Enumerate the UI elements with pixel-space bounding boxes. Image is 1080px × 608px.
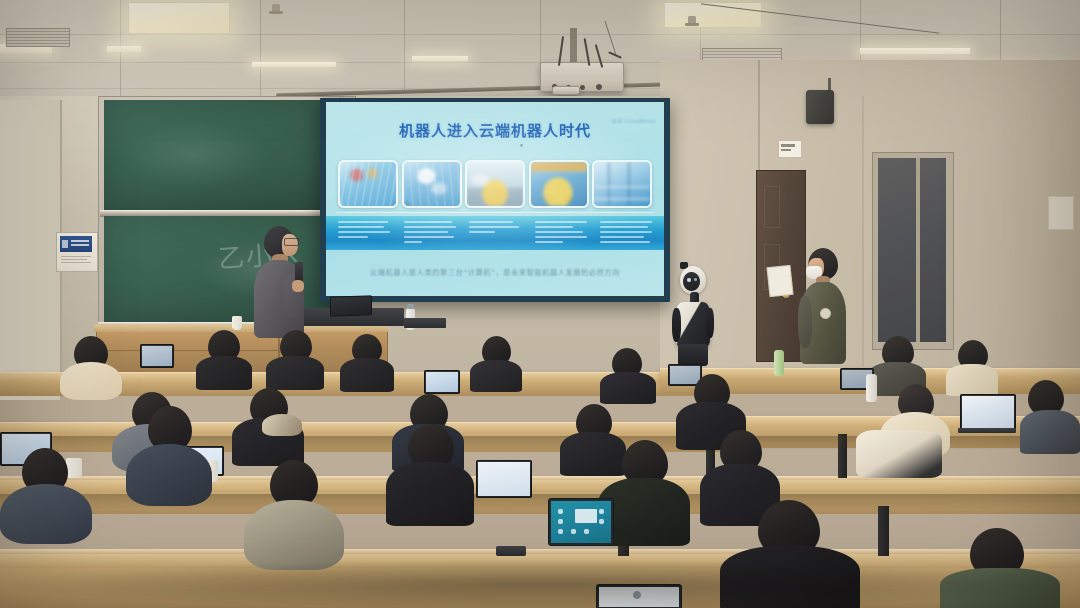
student bbox=[60, 336, 122, 396]
thermos bbox=[866, 374, 877, 402]
water-bottle bbox=[774, 350, 784, 376]
robot-torso bbox=[676, 302, 710, 348]
ceiling-light-strip bbox=[107, 46, 141, 52]
student bbox=[126, 406, 212, 502]
projector-mount-pole bbox=[570, 28, 577, 64]
ceiling-light-strip bbox=[860, 48, 970, 54]
ceiling-light-strip bbox=[252, 62, 336, 67]
student bbox=[196, 330, 252, 388]
window-mullion bbox=[916, 158, 920, 342]
robot-face bbox=[683, 272, 700, 291]
student bbox=[1020, 380, 1080, 450]
presenter-laptop bbox=[330, 295, 372, 316]
student bbox=[340, 334, 394, 390]
slide-logo: 达闼 CloudMinds bbox=[612, 118, 656, 125]
student bbox=[0, 448, 92, 540]
podium-cable-box bbox=[404, 318, 446, 328]
student bbox=[386, 424, 474, 524]
student-laptop bbox=[424, 370, 460, 394]
scarf bbox=[262, 414, 302, 436]
sprinkler-head bbox=[688, 16, 696, 26]
desk-leg bbox=[878, 506, 889, 556]
lecture-hall-photo: 乙小ㄨ 机器人进入云端机器人时代 达闼 CloudMinds bbox=[0, 0, 1080, 608]
student-laptop bbox=[476, 460, 532, 498]
student-hood bbox=[0, 484, 92, 544]
slide-caption: 云端机器人是人类的第三台“计算机”，是未来智能机器人发展的必然方向 bbox=[326, 268, 664, 278]
slide-text-column bbox=[338, 221, 390, 245]
held-paper bbox=[766, 265, 793, 297]
slide-card bbox=[465, 160, 525, 208]
slide-text-column bbox=[404, 221, 456, 245]
student bbox=[946, 340, 998, 392]
student bbox=[470, 336, 522, 390]
slide-text-column bbox=[535, 221, 587, 245]
student bbox=[600, 348, 656, 400]
robot-arm bbox=[672, 308, 681, 342]
window-glass bbox=[878, 158, 946, 342]
assistant-badge bbox=[820, 308, 831, 319]
slide-text-column bbox=[600, 221, 652, 245]
robot-arm bbox=[706, 308, 714, 338]
sprinkler-head bbox=[272, 4, 280, 14]
wall-speaker bbox=[806, 90, 834, 124]
robot-eye bbox=[694, 278, 697, 281]
slide-card bbox=[529, 160, 589, 208]
ceiling-air-vent bbox=[6, 28, 70, 47]
slide-text-column bbox=[469, 221, 521, 245]
presenter-glasses bbox=[284, 238, 299, 246]
presenter-hand bbox=[292, 280, 304, 292]
slide-card-row bbox=[338, 160, 652, 204]
robot-base bbox=[678, 344, 708, 366]
student-tablet[interactable] bbox=[548, 498, 614, 546]
student bbox=[232, 388, 304, 464]
mouse-cursor bbox=[520, 144, 523, 147]
presenter bbox=[248, 226, 314, 338]
robot-eye bbox=[687, 278, 691, 282]
student bbox=[244, 460, 344, 568]
slide-card bbox=[592, 160, 652, 208]
phone-on-desk bbox=[496, 546, 526, 556]
standing-assistant bbox=[798, 248, 850, 364]
projector-lens-housing bbox=[552, 86, 580, 95]
slide-card bbox=[338, 160, 398, 208]
student-laptop bbox=[960, 394, 1016, 432]
assistant-arm bbox=[798, 296, 812, 348]
ceiling-light-strip bbox=[412, 56, 468, 61]
ceiling-light-panel bbox=[128, 2, 230, 34]
paper-cup bbox=[232, 316, 242, 330]
projection-screen: 机器人进入云端机器人时代 达闼 CloudMinds bbox=[326, 102, 664, 296]
wall-notice bbox=[1048, 196, 1074, 230]
left-wall-return bbox=[0, 100, 62, 400]
backpack bbox=[856, 430, 942, 478]
slide-card bbox=[402, 160, 462, 208]
student-hood bbox=[126, 444, 212, 506]
student bbox=[266, 330, 324, 388]
student-laptop bbox=[140, 344, 174, 368]
slide-text-band bbox=[326, 216, 664, 250]
